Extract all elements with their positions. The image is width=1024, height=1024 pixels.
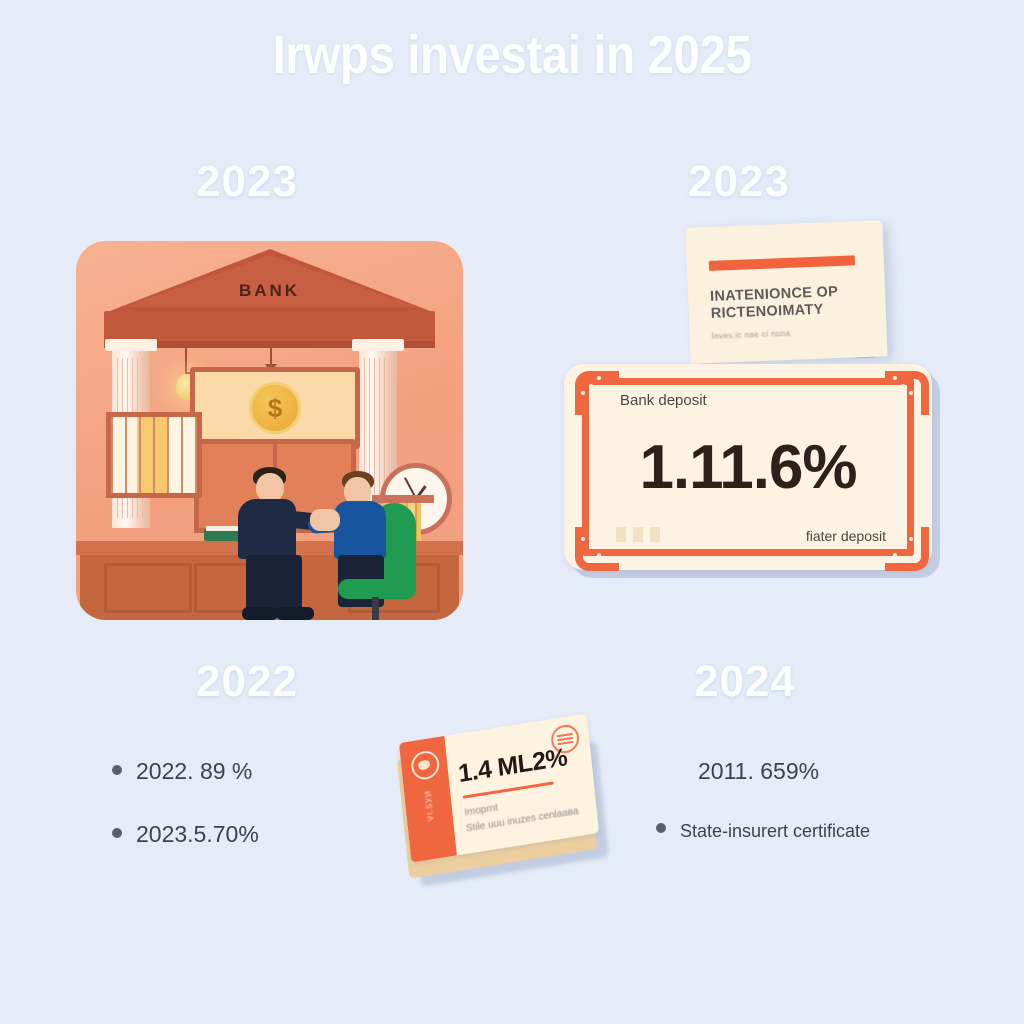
year-label-top-left: 2023 bbox=[196, 157, 298, 207]
certificate-bottom-label: fiater deposit bbox=[806, 528, 886, 544]
office-chair-seat bbox=[338, 579, 416, 599]
small-box-line1: Imoprnt bbox=[464, 802, 499, 818]
paper-subtext: Inves ic nae ci nuna bbox=[711, 326, 861, 341]
paper-document: INATENIONCE OP RICTENOIMATY Inves ic nae… bbox=[685, 220, 887, 363]
year-label-bottom-right: 2024 bbox=[694, 657, 796, 707]
right-stat-value: 2011. 659% bbox=[656, 758, 870, 785]
office-chair-post bbox=[372, 597, 379, 620]
left-stats-list: 2022. 89 % 2023.5.70% bbox=[112, 758, 259, 884]
bullet-dot-icon bbox=[656, 823, 666, 833]
certificate-card: Bank deposit 1.11.6% fiater deposit bbox=[564, 364, 932, 570]
bank-side-window bbox=[106, 412, 202, 498]
list-item: 2022. 89 % bbox=[112, 758, 259, 785]
dollar-coin-icon: $ bbox=[249, 382, 301, 434]
bullet-dot-icon bbox=[112, 765, 122, 775]
bank-upper-window: $ bbox=[190, 367, 360, 449]
page-title: Irwps investai in 2025 bbox=[61, 24, 962, 86]
infographic-canvas: Irwps investai in 2025 2023 2023 2022 20… bbox=[0, 0, 1024, 1024]
paper-accent-bar bbox=[709, 255, 855, 271]
bullet-dot-icon bbox=[112, 828, 122, 838]
book-shelf bbox=[372, 495, 434, 503]
year-label-bottom-left: 2022 bbox=[196, 657, 298, 707]
paper-heading: INATENIONCE OP RICTENOIMATY bbox=[710, 283, 871, 323]
lamp-wire bbox=[185, 348, 187, 374]
list-item-label: State-insurert certificate bbox=[680, 821, 870, 842]
year-label-top-right: 2023 bbox=[688, 157, 790, 207]
list-item: 2023.5.70% bbox=[112, 821, 259, 848]
list-item: State-insurert certificate bbox=[656, 821, 870, 842]
bank-illustration: BANK $ bbox=[76, 241, 463, 620]
right-stats-list: 2011. 659% State-insurert certificate bbox=[656, 758, 870, 878]
list-item-label: 2022. 89 % bbox=[136, 758, 252, 785]
small-certificate-box: VI.5УИ 1.4 ML2% Imoprnt Stile uuu inuzes… bbox=[388, 700, 618, 885]
list-item-label: 2023.5.70% bbox=[136, 821, 259, 848]
handshake-icon bbox=[310, 509, 340, 531]
bank-sign-text: BANK bbox=[239, 281, 300, 301]
certificate-chips bbox=[616, 527, 660, 542]
